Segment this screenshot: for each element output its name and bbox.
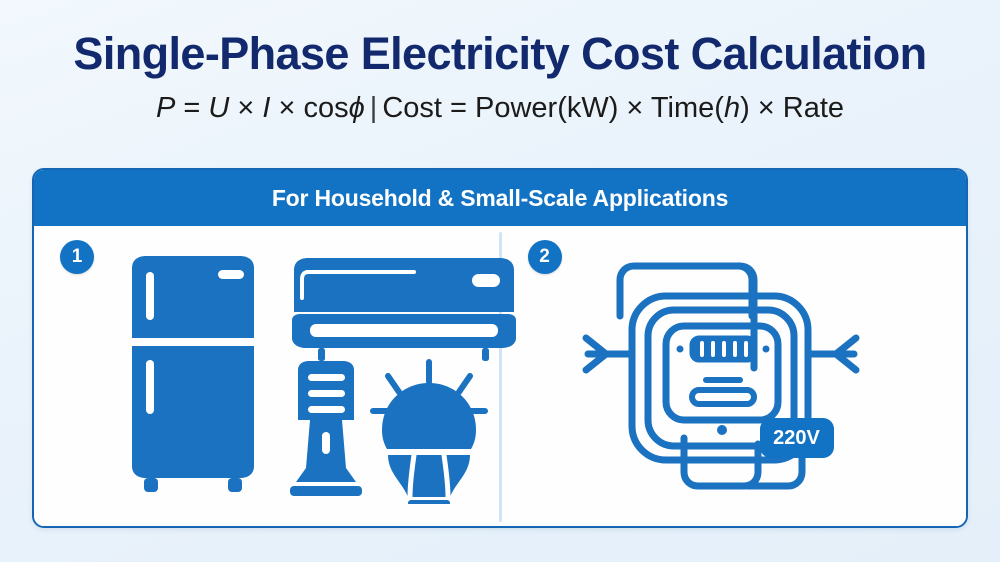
formula-times-2: × — [270, 92, 303, 124]
card-body: 1 — [34, 226, 966, 526]
voltage-badge-label-wrap: 220V — [760, 418, 834, 458]
formula-cost-tail: ) × Rate — [740, 92, 844, 124]
formula-cos-text: cos — [303, 92, 348, 124]
applications-card: For Household & Small-Scale Applications… — [32, 168, 968, 528]
card-header: For Household & Small-Scale Applications — [34, 170, 966, 226]
formula-equals-1: = — [175, 92, 208, 124]
electricity-meter-panel: 2 — [502, 226, 967, 526]
formula-line: P = U × I × cosϕ|Cost = Power(kW) × Time… — [0, 91, 1000, 125]
formula-phi-symbol: ϕ — [349, 92, 365, 124]
formula-p-symbol: P — [156, 92, 175, 124]
title-block: Single-Phase Electricity Cost Calculatio… — [0, 28, 1000, 125]
formula-times-1: × — [229, 92, 262, 124]
page-title: Single-Phase Electricity Cost Calculatio… — [0, 28, 1000, 80]
appliance-icon-group — [124, 254, 524, 504]
household-appliances-panel: 1 — [34, 226, 499, 526]
refrigerator-icon — [132, 256, 254, 492]
light-bulb-icon — [373, 362, 485, 504]
meter-icon-group: 220V — [572, 248, 872, 508]
tower-heater-icon — [290, 361, 362, 496]
meter-icon-stage: 220V — [502, 226, 967, 526]
appliance-icon-stage — [34, 226, 499, 526]
formula-u-symbol: U — [208, 92, 229, 124]
card-header-label: For Household & Small-Scale Applications — [272, 185, 728, 212]
formula-cost-text: Cost = Power(kW) × Time( — [382, 92, 724, 124]
slide-canvas: Single-Phase Electricity Cost Calculatio… — [0, 0, 1000, 562]
formula-separator: | — [365, 92, 383, 124]
voltage-badge-label: 220V — [773, 427, 820, 450]
formula-h-symbol: h — [724, 92, 740, 124]
air-conditioner-icon — [292, 258, 516, 361]
